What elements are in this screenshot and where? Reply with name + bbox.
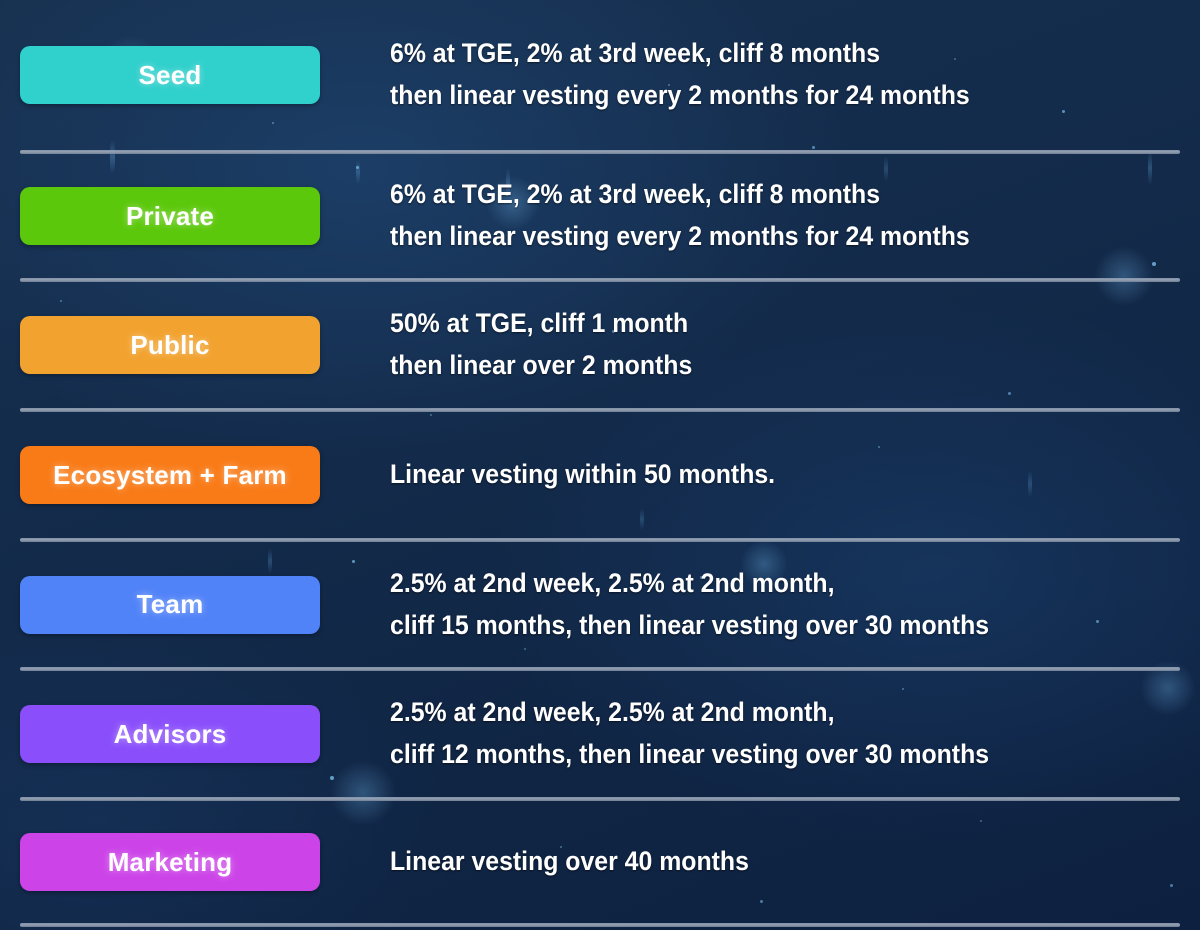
category-pill-ecosystem-farm[interactable]: Ecosystem + Farm	[20, 446, 320, 504]
row-divider	[20, 408, 1180, 412]
category-pill-advisors[interactable]: Advisors	[20, 705, 320, 763]
pill-cell-ecosystem-farm: Ecosystem + Farm	[0, 446, 320, 504]
category-pill-team[interactable]: Team	[20, 576, 320, 634]
description-line: then linear over 2 months	[390, 345, 1122, 387]
vesting-row-ecosystem-farm: Ecosystem + Farm Linear vesting within 5…	[0, 412, 1200, 538]
pill-cell-marketing: Marketing	[0, 833, 320, 891]
description-line: 6% at TGE, 2% at 3rd week, cliff 8 month…	[390, 33, 1122, 75]
category-pill-label: Private	[126, 201, 214, 232]
row-divider	[20, 797, 1180, 801]
row-divider	[20, 667, 1180, 671]
category-pill-public[interactable]: Public	[20, 316, 320, 374]
category-pill-label: Public	[130, 330, 209, 361]
vesting-row-advisors: Advisors 2.5% at 2nd week, 2.5% at 2nd m…	[0, 671, 1200, 797]
row-divider	[20, 923, 1180, 927]
pill-cell-advisors: Advisors	[0, 705, 320, 763]
vesting-schedule-page: Seed 6% at TGE, 2% at 3rd week, cliff 8 …	[0, 0, 1200, 930]
pill-cell-private: Private	[0, 187, 320, 245]
description-line: 6% at TGE, 2% at 3rd week, cliff 8 month…	[390, 174, 1122, 216]
description-line: cliff 12 months, then linear vesting ove…	[390, 734, 1122, 776]
description-line: 2.5% at 2nd week, 2.5% at 2nd month,	[390, 692, 1122, 734]
description-line: Linear vesting over 40 months	[390, 841, 1122, 883]
vesting-row-marketing: Marketing Linear vesting over 40 months	[0, 801, 1200, 923]
row-divider	[20, 538, 1180, 542]
category-pill-label: Marketing	[108, 847, 233, 878]
vesting-row-private: Private 6% at TGE, 2% at 3rd week, cliff…	[0, 154, 1200, 278]
vesting-rows-list: Seed 6% at TGE, 2% at 3rd week, cliff 8 …	[0, 0, 1200, 927]
description-cell-private: 6% at TGE, 2% at 3rd week, cliff 8 month…	[320, 174, 1200, 258]
category-pill-label: Seed	[139, 60, 202, 91]
category-pill-label: Team	[137, 589, 204, 620]
description-cell-ecosystem-farm: Linear vesting within 50 months.	[320, 454, 1200, 496]
description-cell-marketing: Linear vesting over 40 months	[320, 841, 1200, 883]
description-line: 50% at TGE, cliff 1 month	[390, 303, 1122, 345]
category-pill-seed[interactable]: Seed	[20, 46, 320, 104]
pill-cell-seed: Seed	[0, 46, 320, 104]
pill-cell-team: Team	[0, 576, 320, 634]
category-pill-label: Advisors	[114, 719, 227, 750]
description-line: cliff 15 months, then linear vesting ove…	[390, 605, 1122, 647]
category-pill-private[interactable]: Private	[20, 187, 320, 245]
description-line: Linear vesting within 50 months.	[390, 454, 1122, 496]
description-cell-team: 2.5% at 2nd week, 2.5% at 2nd month, cli…	[320, 563, 1200, 647]
category-pill-marketing[interactable]: Marketing	[20, 833, 320, 891]
description-line: 2.5% at 2nd week, 2.5% at 2nd month,	[390, 563, 1122, 605]
category-pill-label: Ecosystem + Farm	[53, 460, 287, 491]
description-cell-seed: 6% at TGE, 2% at 3rd week, cliff 8 month…	[320, 33, 1200, 117]
vesting-row-public: Public 50% at TGE, cliff 1 month then li…	[0, 282, 1200, 408]
row-divider	[20, 150, 1180, 154]
description-cell-advisors: 2.5% at 2nd week, 2.5% at 2nd month, cli…	[320, 692, 1200, 776]
pill-cell-public: Public	[0, 316, 320, 374]
row-divider	[20, 278, 1180, 282]
vesting-row-team: Team 2.5% at 2nd week, 2.5% at 2nd month…	[0, 542, 1200, 667]
description-line: then linear vesting every 2 months for 2…	[390, 216, 1122, 258]
description-line: then linear vesting every 2 months for 2…	[390, 75, 1122, 117]
description-cell-public: 50% at TGE, cliff 1 month then linear ov…	[320, 303, 1200, 387]
vesting-row-seed: Seed 6% at TGE, 2% at 3rd week, cliff 8 …	[0, 0, 1200, 150]
